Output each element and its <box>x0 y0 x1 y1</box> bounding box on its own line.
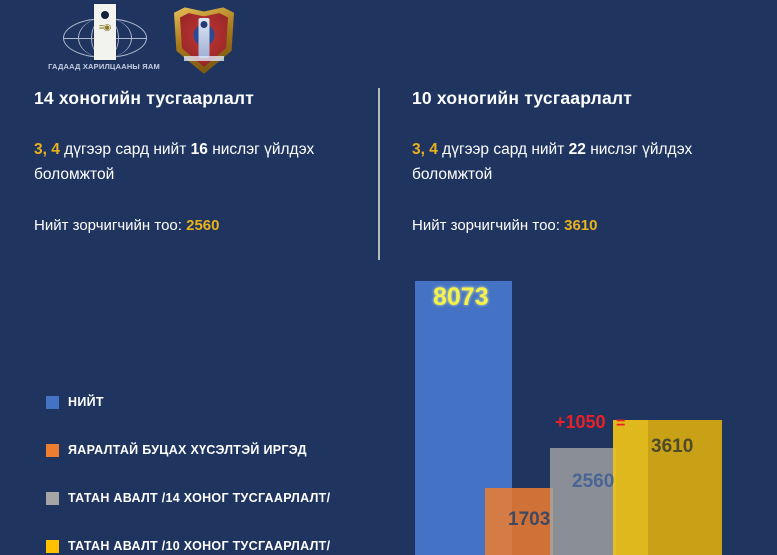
header-logos: ≡◉≡ ГАДААД ХАРИЛЦААНЫ ЯАМ <box>0 0 300 80</box>
legend-label-evac14: ТАТАН АВАЛТ /14 ХОНОГ ТУСГААРЛАЛТ/ <box>68 491 330 505</box>
ministry-caption: ГАДААД ХАРИЛЦААНЫ ЯАМ <box>45 62 163 71</box>
police-shield-emblem-icon <box>174 6 234 74</box>
legend-label-evac10: ТАТАН АВАЛТ /10 ХОНОГ ТУСГААРЛАЛТ/ <box>68 539 330 553</box>
quarantine-10-flights: 3, 4 дүгээр сард нийт 22 нислэг үйлдэх б… <box>412 137 757 187</box>
quarantine-14-passengers: Нийт зорчигчийн тоо: 2560 <box>34 217 374 234</box>
soyombo-pillar-icon: ≡◉≡ <box>94 4 116 60</box>
legend-swatch-evac10 <box>46 540 59 553</box>
legend-item-urgent: ЯАРАЛТАЙ БУЦАХ ХҮСЭЛТЭЙ ИРГЭД <box>46 426 386 474</box>
bar-value-evac14: 2560 <box>572 471 614 493</box>
legend-item-total: НИЙТ <box>46 378 386 426</box>
infographic-page: ≡◉≡ ГАДААД ХАРИЛЦААНЫ ЯАМ 14 хоногийн ту… <box>0 0 777 555</box>
legend-label-urgent: ЯАРАЛТАЙ БУЦАХ ХҮСЭЛТЭЙ ИРГЭД <box>68 443 307 457</box>
bar-evac14 <box>550 448 616 555</box>
column-divider <box>378 88 380 260</box>
legend-swatch-evac14 <box>46 492 59 505</box>
legend-item-evac10: ТАТАН АВАЛТ /10 ХОНОГ ТУСГААРЛАЛТ/ <box>46 522 386 555</box>
passenger-value: 2560 <box>186 217 219 234</box>
quarantine-14-title: 14 хоногийн тусгаарлалт <box>34 88 374 109</box>
bar-value-evac10: 3610 <box>651 436 693 458</box>
quarantine-10-title: 10 хоногийн тусгаарлалт <box>412 88 757 109</box>
legend-label-total: НИЙТ <box>68 395 104 409</box>
flight-months-value: 3, 4 <box>412 141 438 158</box>
quarantine-14-flights: 3, 4 дүгээр сард нийт 16 нислэг үйлдэх б… <box>34 137 374 187</box>
ministry-of-foreign-affairs-emblem-icon: ≡◉≡ ГАДААД ХАРИЛЦААНЫ ЯАМ <box>45 4 163 76</box>
passenger-label: Нийт зорчигчийн тоо: <box>412 217 564 234</box>
legend-swatch-urgent <box>46 444 59 457</box>
flight-months-suffix: дүгээр сард нийт <box>60 141 191 158</box>
flight-months-value: 3, 4 <box>34 141 60 158</box>
chart-legend: НИЙТ ЯАРАЛТАЙ БУЦАХ ХҮСЭЛТЭЙ ИРГЭД ТАТАН… <box>46 378 386 555</box>
flight-count-value: 16 <box>191 141 208 158</box>
equals-annotation: = <box>616 415 625 433</box>
legend-item-evac14: ТАТАН АВАЛТ /14 ХОНОГ ТУСГААРЛАЛТ/ <box>46 474 386 522</box>
passenger-label: Нийт зорчигчийн тоо: <box>34 217 186 234</box>
bar-value-total: 8073 <box>433 283 489 312</box>
flight-months-suffix: дүгээр сард нийт <box>438 141 569 158</box>
quarantine-10-column: 10 хоногийн тусгаарлалт 3, 4 дүгээр сард… <box>412 88 757 234</box>
bar-value-urgent: 1703 <box>508 509 550 531</box>
quarantine-10-passengers: Нийт зорчигчийн тоо: 3610 <box>412 217 757 234</box>
bar-chart: 8073 1703 2560 3610 +1050 = <box>400 266 777 555</box>
flight-count-value: 22 <box>569 141 586 158</box>
bar-evac10-light <box>613 420 649 555</box>
legend-swatch-total <box>46 396 59 409</box>
delta-annotation: +1050 <box>555 412 606 433</box>
quarantine-14-column: 14 хоногийн тусгаарлалт 3, 4 дүгээр сард… <box>34 88 374 234</box>
passenger-value: 3610 <box>564 217 597 234</box>
